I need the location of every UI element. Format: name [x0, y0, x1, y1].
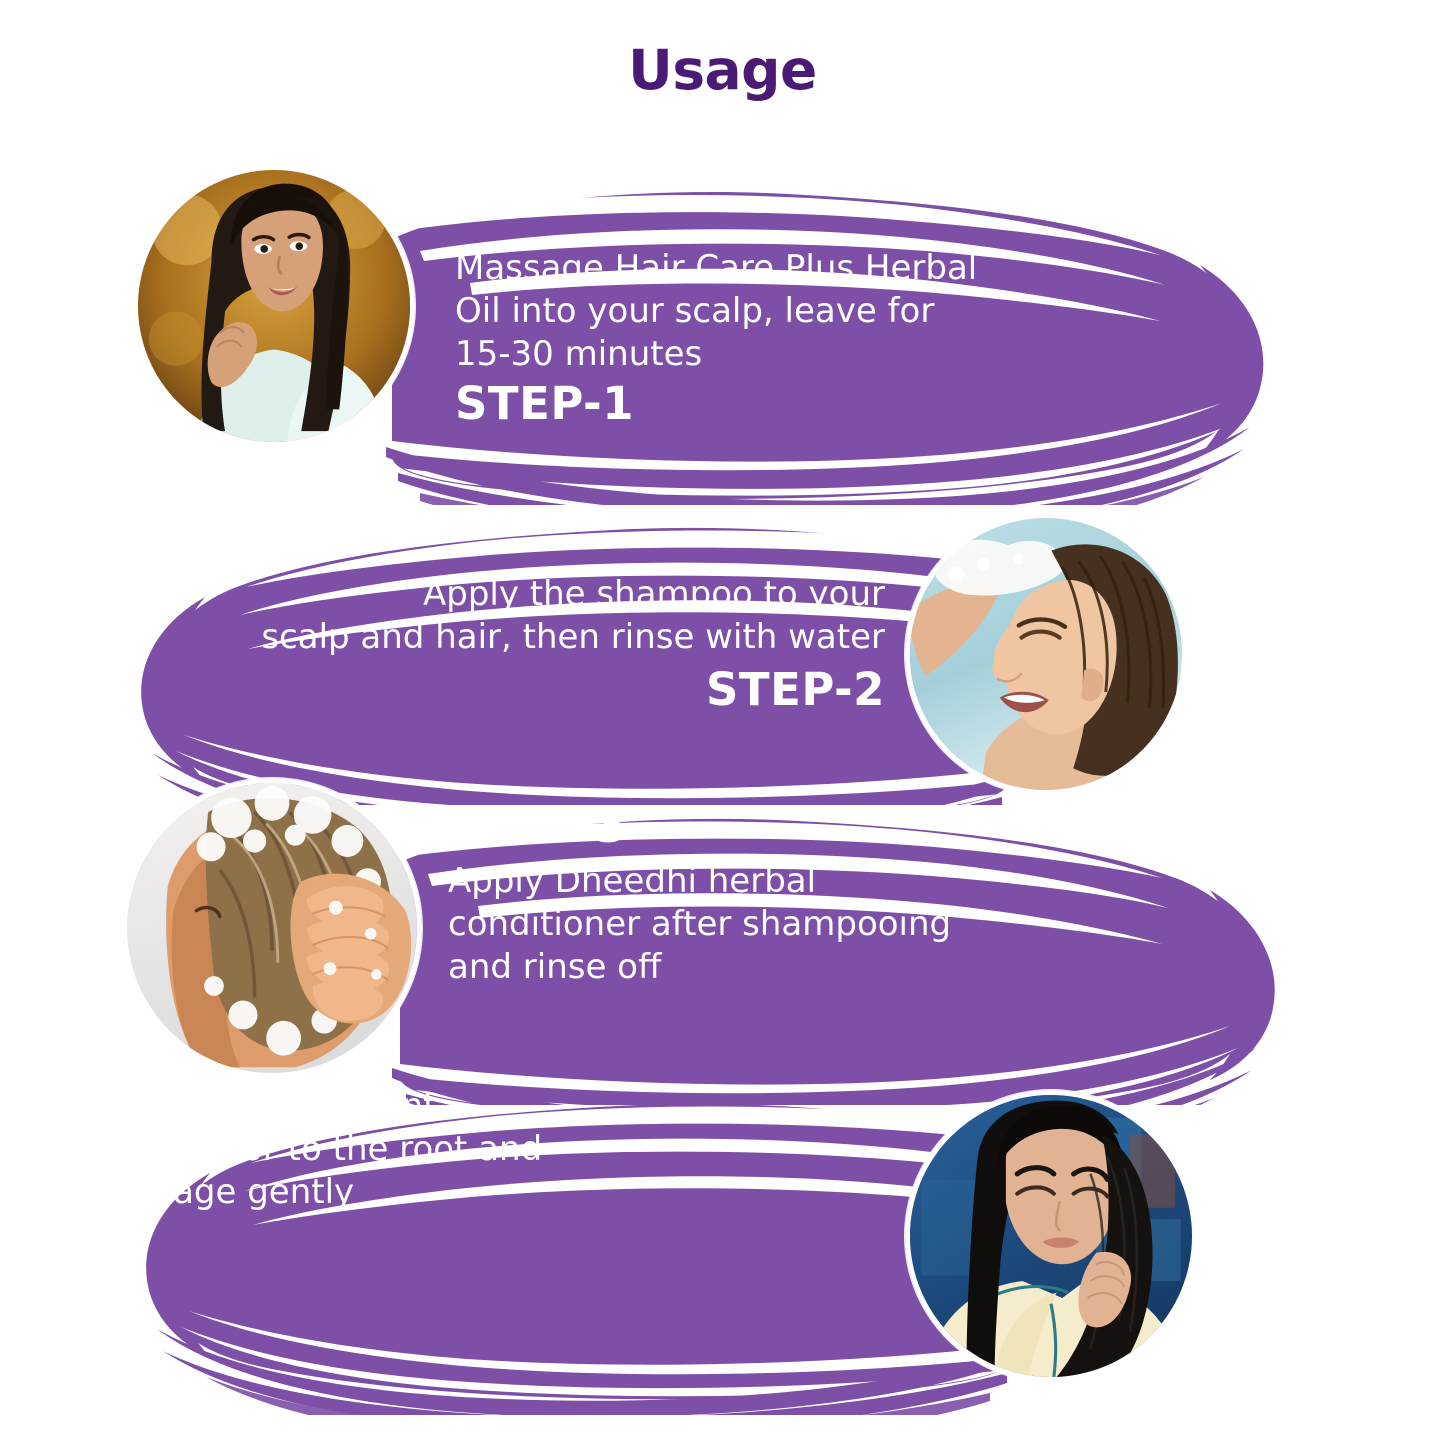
step-row-2: Apply the shampoo to your scalp and hair…	[0, 505, 1445, 805]
step-row-1: Massage Hair Care Plus Herbal Oil into y…	[0, 155, 1445, 505]
step-text-1: Massage Hair Care Plus Herbal Oil into y…	[455, 247, 1075, 375]
step-photo-4	[905, 1090, 1197, 1382]
page-title: Usage	[0, 38, 1445, 102]
step-label-3: STEP-3	[448, 800, 627, 853]
step-label-2: STEP-2	[0, 663, 885, 716]
usage-infographic: Usage	[0, 0, 1445, 1445]
step-row-4: Apply a sufficient amount of hair protec…	[0, 1085, 1445, 1415]
step-photo-1-image	[138, 170, 410, 442]
step-label-4: STEP-4	[0, 1085, 179, 1138]
step-label-1: STEP-1	[455, 377, 634, 430]
step-text-2: Apply the shampoo to your scalp and hair…	[240, 573, 885, 659]
step-photo-2	[905, 513, 1187, 795]
step-photo-3-image	[127, 783, 417, 1073]
step-photo-3	[122, 778, 422, 1078]
step-photo-2-image	[910, 518, 1182, 790]
step-text-3: Apply Dheedhi herbal conditioner after s…	[448, 860, 1048, 988]
step-photo-1	[133, 165, 415, 447]
step-row-3: Apply Dheedhi herbal conditioner after s…	[0, 800, 1445, 1105]
step-photo-4-image	[910, 1095, 1192, 1377]
